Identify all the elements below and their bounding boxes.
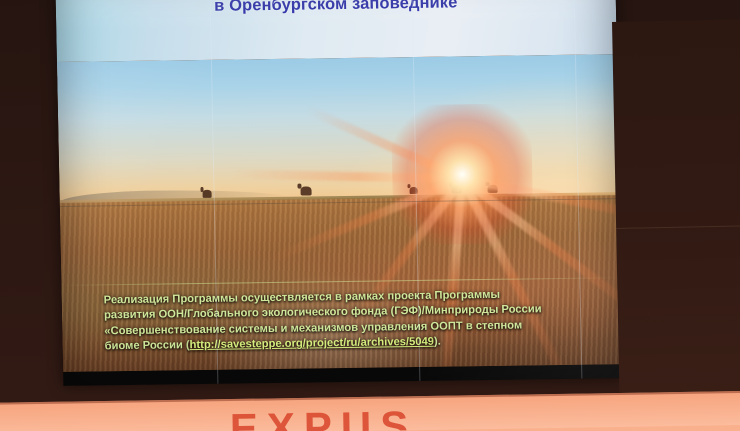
slide-photo-steppe: Реализация Программы осуществляется в ра… bbox=[57, 54, 623, 372]
right-dark-panel bbox=[612, 19, 740, 418]
slide-title: лошади Пржевальского Equus ferus przewal… bbox=[55, 0, 616, 20]
photo-sun-flare bbox=[462, 174, 463, 175]
slide-caption-block: Реализация Программы осуществляется в ра… bbox=[61, 282, 622, 364]
savesteppe-project-link[interactable]: http://savesteppe.org/project/ru/archive… bbox=[190, 336, 435, 351]
slide-surface: лошади Пржевальского Equus ferus przewal… bbox=[55, 0, 623, 386]
caption-line-2: развития ООН/Глобального экологического … bbox=[104, 303, 542, 321]
caption-line-4-suffix: ). bbox=[434, 336, 441, 348]
flare-core bbox=[391, 103, 534, 245]
caption-line-4-prefix: биоме России ( bbox=[105, 340, 190, 353]
slide-title-line2: в Оренбургском заповеднике bbox=[214, 0, 458, 15]
banner-lettering: EXPUS bbox=[230, 402, 418, 431]
projection-screen: лошади Пржевальского Equus ferus przewal… bbox=[55, 0, 623, 386]
right-panel-seam bbox=[616, 225, 740, 230]
caption-line-3: «Совершенствование системы и механизмов … bbox=[104, 319, 522, 337]
caption-line-1: Реализация Программы осуществляется в ра… bbox=[104, 288, 501, 306]
horse-silhouette bbox=[202, 190, 211, 198]
slide-caption-text: Реализация Программы осуществляется в ра… bbox=[62, 286, 623, 356]
horse-silhouette bbox=[300, 187, 311, 196]
photo-of-projected-slide: лошади Пржевальского Equus ferus przewal… bbox=[0, 0, 740, 431]
